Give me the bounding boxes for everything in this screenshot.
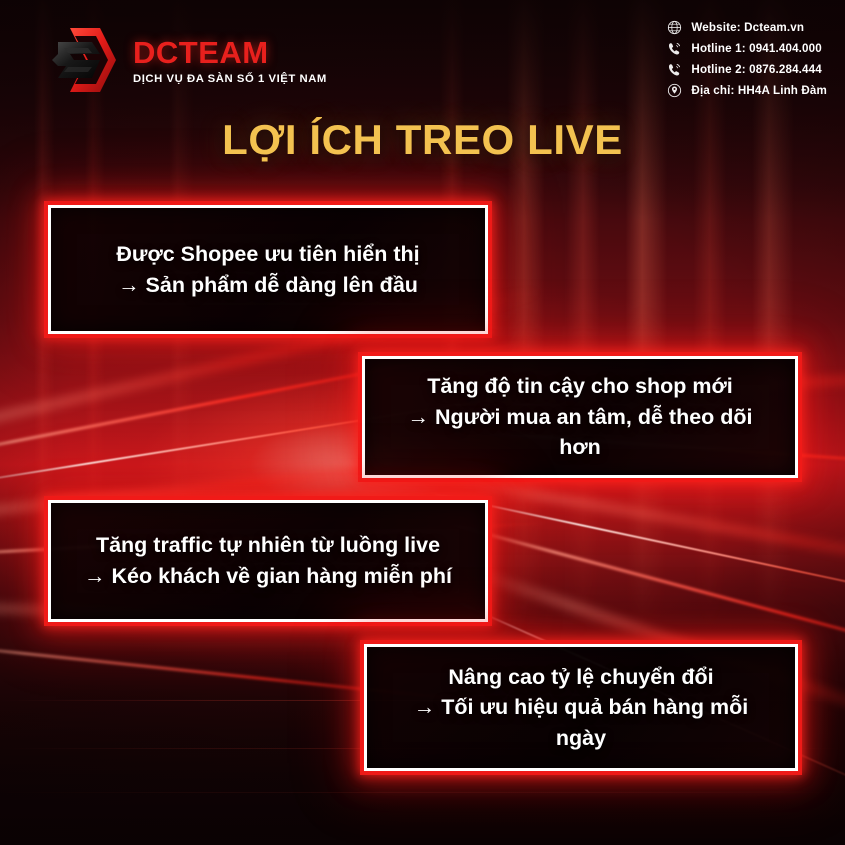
contact-hotline1-text: Hotline 1: 0941.404.000 xyxy=(691,42,821,55)
benefit-1-line-1: Được Shopee ưu tiên hiển thị xyxy=(116,242,419,266)
benefit-box-1-text: Được Shopee ưu tiên hiển thị → Sản phẩm … xyxy=(51,239,485,300)
poster-canvas: DCTEAM DỊCH VỤ ĐA SÀN SỐ 1 VIỆT NAM Webs… xyxy=(0,0,845,845)
brand-tagline: DỊCH VỤ ĐA SÀN SỐ 1 VIỆT NAM xyxy=(133,74,327,85)
contact-address-text: Địa chỉ: HH4A Linh Đàm xyxy=(691,84,827,97)
hexagon-logo-icon xyxy=(48,24,120,96)
benefit-box-4-text: Nâng cao tỷ lệ chuyển đổi → Tối ưu hiệu … xyxy=(367,662,795,754)
benefit-box-1[interactable]: Được Shopee ưu tiên hiển thị → Sản phẩm … xyxy=(48,205,488,334)
benefit-box-3-text: Tăng traffic tự nhiên từ luồng live → Ké… xyxy=(51,530,485,591)
location-pin-icon xyxy=(667,83,682,98)
contact-item-hotline-2[interactable]: Hotline 2: 0876.284.444 xyxy=(667,62,827,77)
contact-info-block: Website: Dcteam.vn Hotline 1: 0941.404.0… xyxy=(667,20,827,98)
benefit-3-line-1: Tăng traffic tự nhiên từ luồng live xyxy=(96,533,440,557)
phone-icon xyxy=(667,62,682,77)
brand-logo-block: DCTEAM DỊCH VỤ ĐA SÀN SỐ 1 VIỆT NAM xyxy=(48,24,327,96)
phone-icon xyxy=(667,41,682,56)
contact-hotline2-text: Hotline 2: 0876.284.444 xyxy=(691,63,821,76)
benefit-4-line-2: → Tối ưu hiệu quả bán hàng mỗi ngày xyxy=(391,692,771,753)
benefit-1-line-2: → Sản phẩm dễ dàng lên đầu xyxy=(75,270,461,301)
page-title: LỢI ÍCH TREO LIVE xyxy=(0,116,845,164)
benefit-2-line-2: → Người mua an tâm, dễ theo dõi hơn xyxy=(389,402,771,463)
contact-item-website[interactable]: Website: Dcteam.vn xyxy=(667,20,827,35)
brand-name: DCTEAM xyxy=(133,37,327,68)
benefit-box-3[interactable]: Tăng traffic tự nhiên từ luồng live → Ké… xyxy=(48,500,488,622)
contact-item-address[interactable]: Địa chỉ: HH4A Linh Đàm xyxy=(667,83,827,98)
benefit-box-4[interactable]: Nâng cao tỷ lệ chuyển đổi → Tối ưu hiệu … xyxy=(364,644,798,771)
contact-item-hotline-1[interactable]: Hotline 1: 0941.404.000 xyxy=(667,41,827,56)
contact-website-text: Website: Dcteam.vn xyxy=(691,21,804,34)
benefit-4-line-1: Nâng cao tỷ lệ chuyển đổi xyxy=(448,665,713,689)
benefit-2-line-1: Tăng độ tin cậy cho shop mới xyxy=(427,374,733,398)
benefit-3-line-2: → Kéo khách về gian hàng miễn phí xyxy=(75,561,461,592)
globe-icon xyxy=(667,20,682,35)
benefit-box-2[interactable]: Tăng độ tin cậy cho shop mới → Người mua… xyxy=(362,356,798,478)
benefit-box-2-text: Tăng độ tin cậy cho shop mới → Người mua… xyxy=(365,371,795,463)
